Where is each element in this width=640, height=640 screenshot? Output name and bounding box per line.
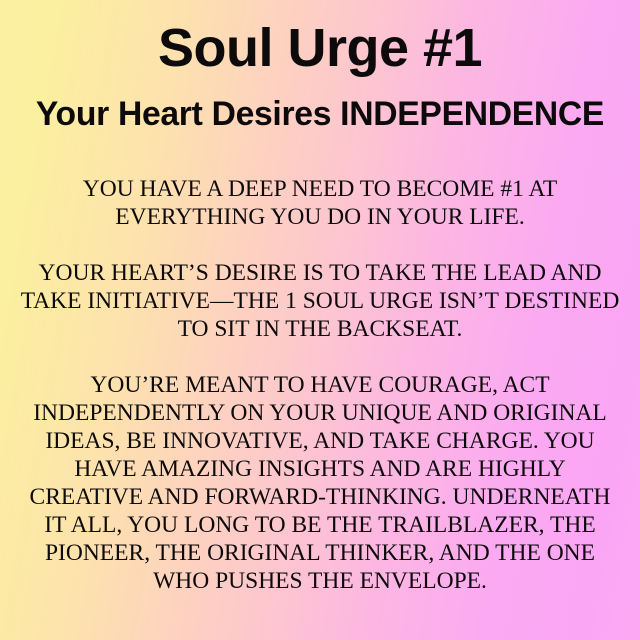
body-paragraph: YOUR HEART’S DESIRE IS TO TAKE THE LEAD … xyxy=(0,259,640,343)
poster-body: YOU HAVE A DEEP NEED TO BECOME #1 AT EVE… xyxy=(0,175,640,595)
soul-urge-poster: Soul Urge #1 Your Heart Desires INDEPEND… xyxy=(0,0,640,640)
poster-heading-block: Soul Urge #1 Your Heart Desires INDEPEND… xyxy=(0,0,640,131)
body-paragraph: YOU’RE MEANT TO HAVE COURAGE, ACT INDEPE… xyxy=(0,371,640,595)
page-title: Soul Urge #1 xyxy=(0,0,640,75)
page-subtitle: Your Heart Desires INDEPENDENCE xyxy=(3,75,637,131)
body-paragraph: YOU HAVE A DEEP NEED TO BECOME #1 AT EVE… xyxy=(0,175,640,231)
